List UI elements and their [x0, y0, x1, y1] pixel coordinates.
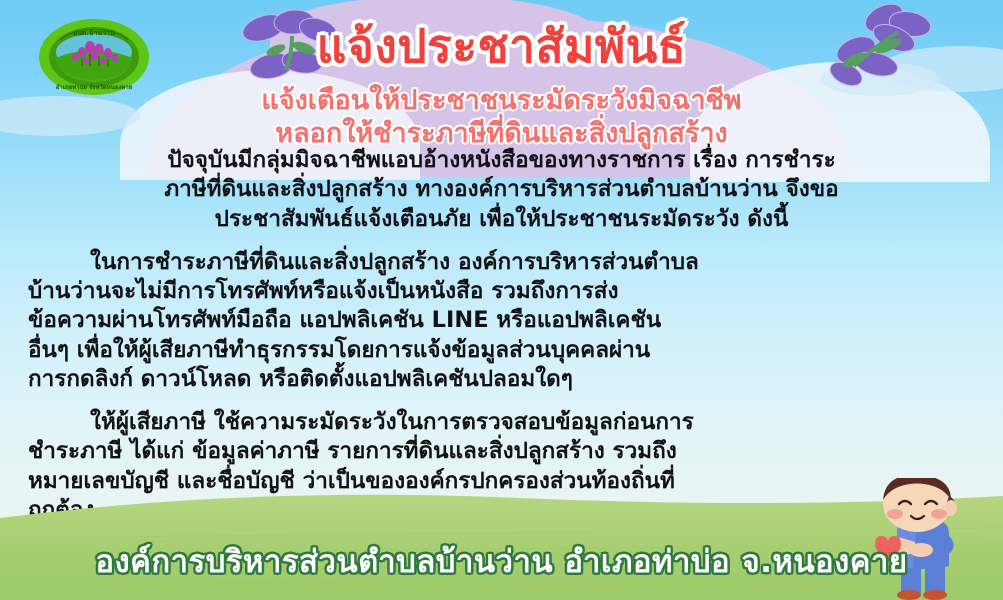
paragraph-2-line-5: การกดลิงก์ ดาวน์โหลด หรือติดตั้งแอปพลิเค…	[28, 365, 975, 394]
paragraph-1-line-1: ปัจจุบันมีกลุ่มมิจฉาชีพแอบอ้างหนังสือของ…	[28, 146, 975, 175]
paragraph-3-line-2: ชำระภาษี ได้แก่ ข้อมูลค่าภาษี รายการที่ด…	[28, 437, 975, 466]
paragraph-2: ในการชำระภาษีที่ดินและสิ่งปลูกสร้าง องค์…	[28, 248, 975, 394]
subtitle-line-1: แจ้งเตือนให้ประชาชนระมัดระวังมิจฉาชีพ	[0, 84, 1003, 117]
paragraph-2-line-3: ข้อความผ่านโทรศัพท์มือถือ แอปพลิเคชัน LI…	[28, 306, 975, 335]
page-subtitle: แจ้งเตือนให้ประชาชนระมัดระวังมิจฉาชีพ หล…	[0, 84, 1003, 151]
paragraph-2-line-4: อื่นๆ เพื่อให้ผู้เสียภาษีทำธุรกรรมโดยการ…	[28, 336, 975, 365]
paragraph-3-line-1: ให้ผู้เสียภาษี ใช้ความระมัดระวังในการตรว…	[28, 408, 975, 437]
announcement-poster: อบต.บ้านว่าน อำเภอท่าบ่อ จังหวัดหนองคาย	[0, 0, 1003, 600]
organization-footer: องค์การบริหารส่วนตำบลบ้านว่าน อำเภอท่าบ่…	[0, 536, 1003, 586]
paragraph-2-line-1: ในการชำระภาษีที่ดินและสิ่งปลูกสร้าง องค์…	[28, 248, 975, 277]
paragraph-1-line-3: ประชาสัมพันธ์แจ้งเตือนภัย เพื่อให้ประชาช…	[28, 205, 975, 234]
paragraph-1-line-2: ภาษีที่ดินและสิ่งปลูกสร้าง ทางองค์การบริ…	[28, 175, 975, 204]
page-title: แจ้งประชาสัมพันธ์	[0, 22, 1003, 72]
paragraph-2-line-2: บ้านว่านจะไม่มีการโทรศัพท์หรือแจ้งเป็นหน…	[28, 277, 975, 306]
paragraph-1: ปัจจุบันมีกลุ่มมิจฉาชีพแอบอ้างหนังสือของ…	[28, 146, 975, 234]
